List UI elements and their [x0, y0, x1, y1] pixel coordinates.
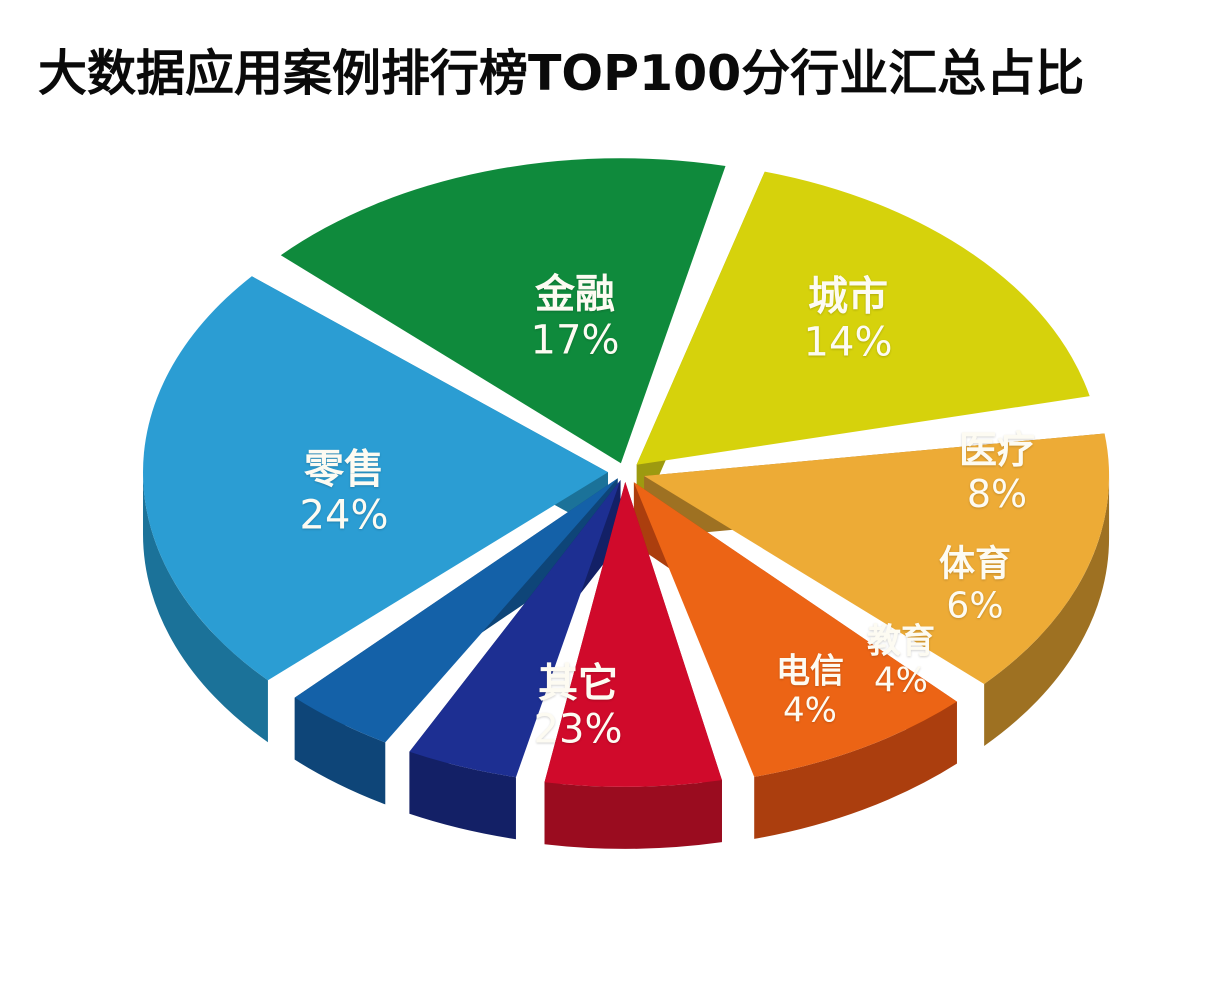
- slice-rim-体育: [545, 780, 722, 849]
- pie-chart-graphic: [0, 0, 1231, 988]
- pie-top-faces: [143, 158, 1109, 787]
- chart-page: 大数据应用案例排行榜TOP100分行业汇总占比 金融17%城市14%医疗8%体育…: [0, 0, 1231, 988]
